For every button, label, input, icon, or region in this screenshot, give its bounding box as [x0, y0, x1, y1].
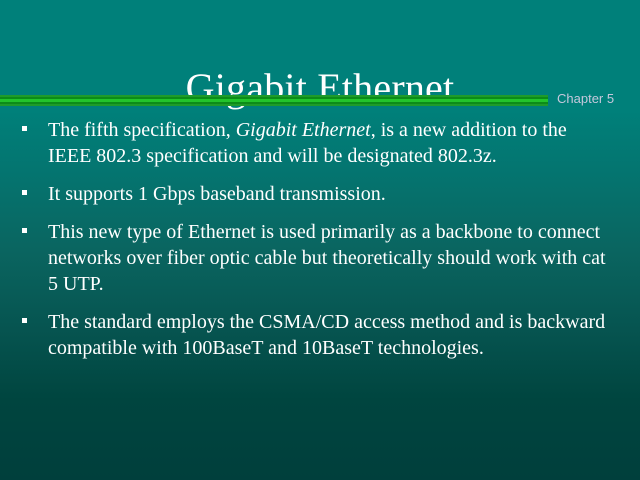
chapter-label: Chapter 5 [557, 91, 614, 107]
square-bullet-icon [22, 318, 27, 323]
bullet-text: The fifth specification, Gigabit Etherne… [48, 117, 614, 169]
slide-body: The fifth specification, Gigabit Etherne… [0, 117, 640, 373]
list-item: This new type of Ethernet is used primar… [0, 219, 640, 297]
list-item: The standard employs the CSMA/CD access … [0, 309, 640, 361]
bullet-text: This new type of Ethernet is used primar… [48, 219, 614, 297]
list-item: It supports 1 Gbps baseband transmission… [0, 181, 640, 207]
list-item: The fifth specification, Gigabit Etherne… [0, 117, 640, 169]
square-bullet-icon [22, 126, 27, 131]
divider-stripe-outer-bottom [0, 104, 548, 106]
presentation-slide: Gigabit Ethernet Chapter 5 The fifth spe… [0, 0, 640, 480]
square-bullet-icon [22, 228, 27, 233]
bullet-text: The standard employs the CSMA/CD access … [48, 309, 614, 361]
square-bullet-icon [22, 190, 27, 195]
bullet-text: It supports 1 Gbps baseband transmission… [48, 181, 614, 207]
title-divider-rule [0, 95, 548, 106]
